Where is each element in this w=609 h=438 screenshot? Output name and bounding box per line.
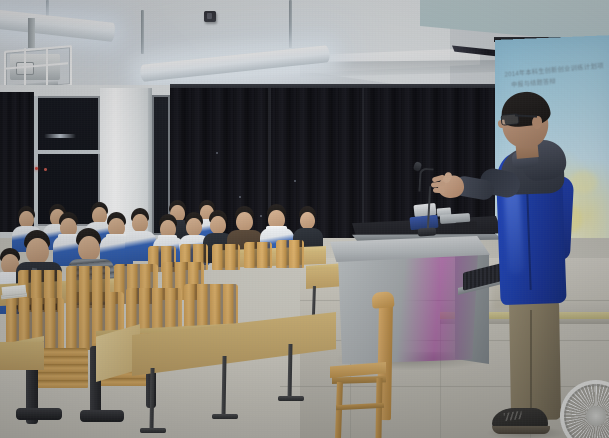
presenter-finger bbox=[433, 188, 445, 194]
seat-frame-foot bbox=[16, 408, 62, 420]
presenter-pants bbox=[509, 294, 561, 421]
seat-backrest[interactable] bbox=[244, 242, 272, 268]
student-head bbox=[132, 214, 148, 232]
seat-backrest[interactable] bbox=[212, 244, 240, 270]
presenter bbox=[470, 96, 590, 438]
seat-backrest[interactable] bbox=[276, 240, 304, 268]
student-head bbox=[26, 238, 49, 264]
curtain-speck bbox=[216, 152, 218, 154]
curtain-speck bbox=[260, 215, 262, 217]
presenter-ear bbox=[532, 116, 542, 129]
desk-foot bbox=[212, 414, 238, 419]
cage-bar-vertical-2 bbox=[46, 48, 48, 85]
ceiling-projector bbox=[4, 44, 68, 89]
microphone-base bbox=[418, 227, 437, 236]
light-hanger-right-b bbox=[289, 0, 292, 48]
window-reflection bbox=[44, 134, 76, 138]
student-head bbox=[78, 236, 100, 261]
student-head bbox=[236, 212, 253, 231]
student-head bbox=[186, 218, 202, 236]
seat-frame-foot bbox=[80, 410, 124, 422]
window-mullion-vertical bbox=[34, 96, 38, 226]
lectern-body bbox=[338, 252, 478, 364]
curtain-speck bbox=[239, 196, 241, 198]
desk-left-corner-face bbox=[0, 342, 44, 370]
student-head bbox=[300, 212, 315, 229]
presenter-shoe-sole bbox=[492, 426, 550, 434]
desk-foot bbox=[278, 396, 304, 401]
desk-foot bbox=[140, 428, 166, 433]
projector-mount bbox=[28, 18, 35, 48]
lecture-hall-photo: 2014年本科生创新创业训练计划项目 申报与结题答辩 bbox=[0, 0, 609, 438]
student-head bbox=[210, 216, 226, 234]
indicator-light-red bbox=[35, 167, 38, 170]
slide-text-block: 2014年本科生创新创业训练计划项目 申报与结题答辩 bbox=[504, 62, 604, 94]
presenter-pants-crease bbox=[530, 310, 532, 410]
smoke-detector-icon bbox=[204, 11, 216, 22]
floor-fan-hub bbox=[586, 406, 606, 426]
curtain-speck bbox=[294, 180, 296, 182]
curtain-seam-2 bbox=[362, 88, 364, 240]
indicator-light-red-2 bbox=[44, 168, 47, 171]
wooden-chair-crest bbox=[371, 291, 394, 308]
light-hanger-right-a bbox=[141, 10, 144, 54]
